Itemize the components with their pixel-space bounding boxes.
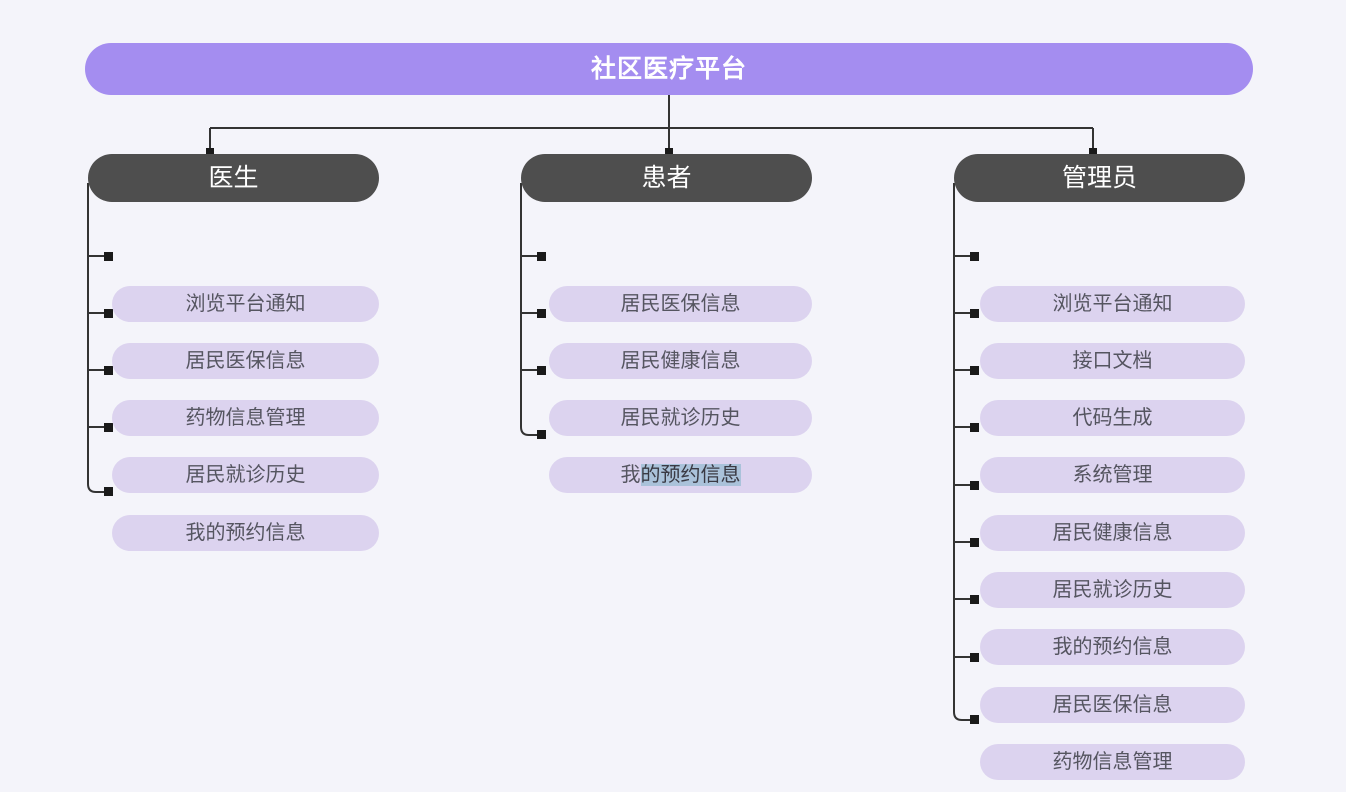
root-node[interactable]: 社区医疗平台 [85,43,1253,95]
child-node[interactable]: 居民医保信息 [980,687,1245,723]
connector-marker-admin-6 [970,538,979,547]
branch-admin: 管理员 浏览平台通知 接口文档 代码生成 系统管理 居民健康信息 居民就诊历史 … [954,154,1245,238]
connector-marker-patient-1 [537,252,546,261]
branch-header-label-doctor: 医生 [208,166,258,191]
connector-marker-admin-9 [970,715,979,724]
child-node[interactable]: 浏览平台通知 [112,286,379,322]
child-node[interactable]: 居民健康信息 [980,515,1245,551]
branch-patient: 患者 居民医保信息 居民健康信息 居民就诊历史 我的预约信息 [521,154,812,238]
child-node-label: 我的预约信息 [186,523,306,543]
child-node[interactable]: 浏览平台通知 [980,286,1245,322]
connector-marker-doctor-5 [104,487,113,496]
child-node-label: 系统管理 [1073,465,1153,485]
connector-marker-admin-8 [970,653,979,662]
connector-marker-doctor-1 [104,252,113,261]
connector-marker-doctor-2 [104,309,113,318]
child-node-label: 居民就诊历史 [186,465,306,485]
child-node[interactable]: 药物信息管理 [112,400,379,436]
root-node-label: 社区医疗平台 [591,57,747,82]
branch-header-label-admin: 管理员 [1062,166,1137,191]
connector-marker-admin-5 [970,481,979,490]
child-node[interactable]: 居民医保信息 [549,286,812,322]
child-node[interactable]: 我的预约信息 [112,515,379,551]
selection-prefix: 我 [621,464,641,486]
child-node-label: 居民医保信息 [186,351,306,371]
connector-marker-admin-7 [970,595,979,604]
child-node[interactable]: 我的预约信息 [980,629,1245,665]
child-node-label: 药物信息管理 [1053,752,1173,772]
child-node-label: 接口文档 [1073,351,1153,371]
child-node-label: 居民就诊历史 [1053,580,1173,600]
branch-header-patient[interactable]: 患者 [521,154,812,202]
connector-marker-patient-3 [537,366,546,375]
mindmap-canvas: 社区医疗平台 医生 浏览平台通知 居民医保信息 药物信息管理 居民就诊历史 我的… [0,0,1346,792]
child-node-label: 我的预约信息 [621,465,741,485]
child-node-label: 居民医保信息 [1053,695,1173,715]
child-node[interactable]: 居民健康信息 [549,343,812,379]
selection-highlight: 的预约信息 [641,464,741,486]
connector-lines [0,0,1346,792]
connector-marker-admin-4 [970,423,979,432]
child-node[interactable]: 系统管理 [980,457,1245,493]
connector-marker-doctor-3 [104,366,113,375]
child-node[interactable]: 代码生成 [980,400,1245,436]
child-node-label: 居民医保信息 [621,294,741,314]
child-node-label: 居民健康信息 [621,351,741,371]
child-node-selected[interactable]: 我的预约信息 [549,457,812,493]
connector-marker-patient-4 [537,430,546,439]
child-node[interactable]: 居民医保信息 [112,343,379,379]
child-node[interactable]: 居民就诊历史 [549,400,812,436]
branch-header-label-patient: 患者 [641,166,691,191]
child-node[interactable]: 居民就诊历史 [112,457,379,493]
child-node-label: 居民健康信息 [1053,523,1173,543]
connector-marker-admin-2 [970,309,979,318]
connector-marker-admin-3 [970,366,979,375]
connector-spine-admin [954,183,970,720]
child-node-label: 代码生成 [1073,408,1153,428]
child-node[interactable]: 居民就诊历史 [980,572,1245,608]
child-node-label: 浏览平台通知 [186,294,306,314]
child-node[interactable]: 药物信息管理 [980,744,1245,780]
connector-marker-doctor-4 [104,423,113,432]
connector-marker-patient-2 [537,309,546,318]
child-node-label: 药物信息管理 [186,408,306,428]
branch-doctor: 医生 浏览平台通知 居民医保信息 药物信息管理 居民就诊历史 我的预约信息 [88,154,379,238]
child-node-label: 浏览平台通知 [1053,294,1173,314]
child-node-label: 居民就诊历史 [621,408,741,428]
child-node[interactable]: 接口文档 [980,343,1245,379]
branch-header-doctor[interactable]: 医生 [88,154,379,202]
connector-marker-admin-1 [970,252,979,261]
branch-header-admin[interactable]: 管理员 [954,154,1245,202]
child-node-label: 我的预约信息 [1053,637,1173,657]
